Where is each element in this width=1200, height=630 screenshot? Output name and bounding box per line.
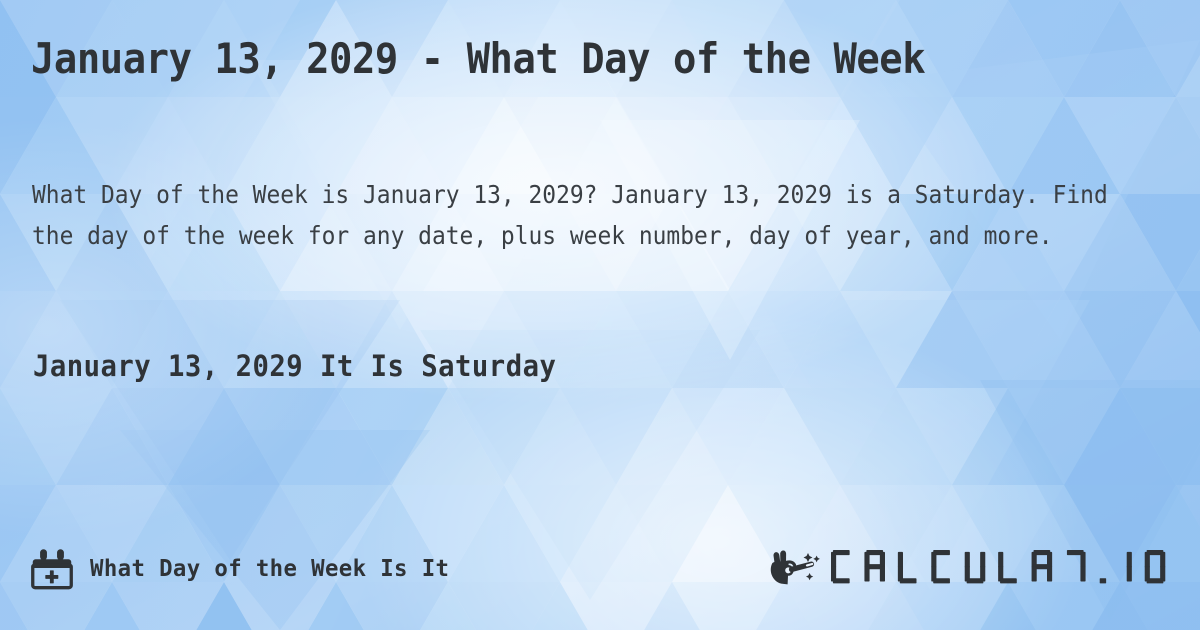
answer-heading: January 13, 2029 It Is Saturday [33,346,973,386]
footer-tool-name: What Day of the Week Is It [90,554,449,582]
intro-paragraph: What Day of the Week is January 13, 2029… [32,174,1145,256]
magic-wand-hand-icon [765,548,825,588]
calendar-plus-icon [30,546,74,590]
brand-wordmark [831,550,1178,586]
footer-tool-identity: What Day of the Week Is It [30,546,468,590]
brand-logo [765,548,1178,588]
page-title: January 13, 2029 - What Day of the Week [31,30,1012,88]
site-footer: What Day of the Week Is It [0,540,1200,610]
